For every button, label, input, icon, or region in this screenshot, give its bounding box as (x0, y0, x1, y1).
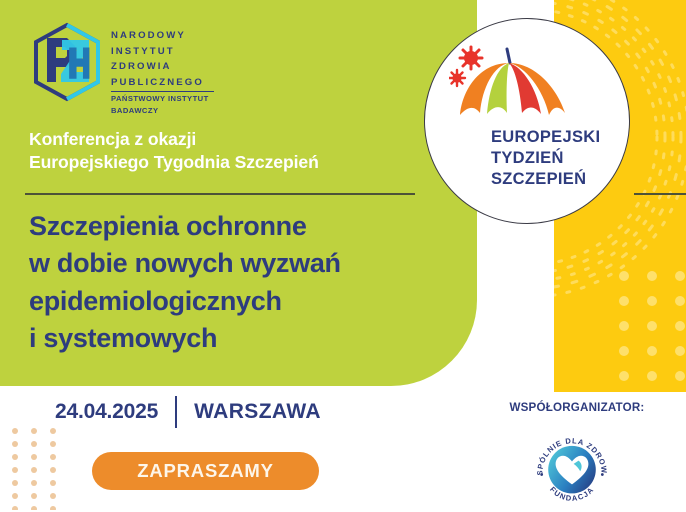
pzh-name-line-1: NARODOWY (111, 28, 204, 44)
title-line-4: i systemowych (29, 320, 341, 357)
orange-dot-pattern (10, 426, 62, 510)
pzh-name-line-2: INSTYTUT (111, 44, 204, 60)
title-line-2: w dobie nowych wyzwań (29, 245, 341, 282)
pzh-logo-rule (111, 91, 214, 92)
pzh-name-line-3: ZDROWIA (111, 59, 204, 75)
page-title: Szczepienia ochronne w dobie nowych wyzw… (29, 208, 341, 357)
virus-icon-small (449, 70, 465, 86)
title-line-3: epidemiologicznych (29, 283, 341, 320)
coorganizer-label: WSPÓŁORGANIZATOR: (497, 401, 657, 414)
conference-kicker: Konferencja z okazji Europejskiego Tygod… (29, 128, 319, 175)
pzh-name-line-4: PUBLICZNEGO (111, 75, 204, 91)
virus-icon-large (460, 47, 482, 69)
kicker-line-1: Konferencja z okazji (29, 128, 319, 151)
event-date: 24.04.2025 (55, 400, 158, 424)
pzh-institute-name: NARODOWY INSTYTUT ZDROWIA PUBLICZNEGO (111, 28, 204, 90)
header-divider-line-right (634, 193, 686, 195)
kicker-line-2: Europejskiego Tygodnia Szczepień (29, 151, 319, 174)
ets-logo-text: EUROPEJSKI TYDZIEŃ SZCZEPIEŃ (491, 127, 600, 190)
ets-line-1: EUROPEJSKI (491, 127, 600, 148)
ets-line-2: TYDZIEŃ (491, 148, 600, 169)
event-meta: 24.04.2025 WARSZAWA (55, 396, 321, 428)
pzh-logo: NARODOWY INSTYTUT ZDROWIA PUBLICZNEGO PA… (31, 22, 211, 110)
yellow-dot-pattern (616, 268, 686, 390)
zapraszamy-button[interactable]: ZAPRASZAMY (92, 452, 319, 490)
meta-divider (175, 396, 177, 428)
european-immunization-week-logo: EUROPEJSKI TYDZIEŃ SZCZEPIEŃ (424, 18, 630, 224)
wspolnie-dla-zdrowia-logo: WSPÓLNIE DLA ZDROWIA FUNDACJA (531, 427, 613, 509)
pzh-institute-subtitle: PAŃSTWOWY INSTYTUT BADAWCZY (111, 93, 231, 116)
header-divider-line (25, 193, 415, 195)
ets-line-3: SZCZEPIEŃ (491, 169, 600, 190)
title-line-1: Szczepienia ochronne (29, 208, 341, 245)
umbrella-icon (449, 41, 569, 137)
poster-canvas: NARODOWY INSTYTUT ZDROWIA PUBLICZNEGO PA… (0, 0, 686, 512)
event-city: WARSZAWA (194, 400, 321, 424)
pzh-monogram-icon (31, 22, 103, 102)
